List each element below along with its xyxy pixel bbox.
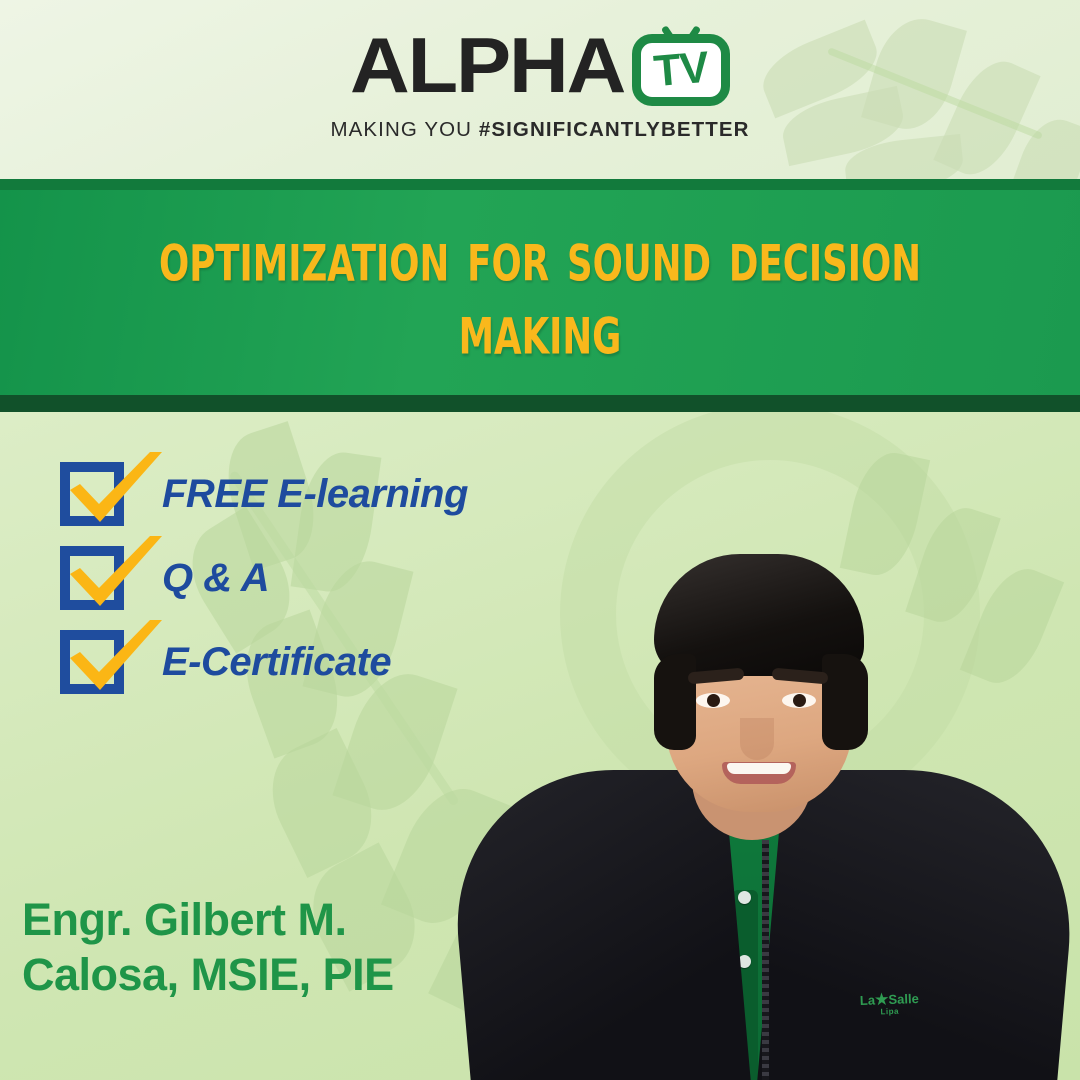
- title-banner: Optimization for Sound Decision Making: [0, 179, 1080, 412]
- speaker-name: Engr. Gilbert M. Calosa, MSIE, PIE: [22, 893, 502, 1003]
- photo-eye-right: [782, 693, 816, 708]
- photo-mouth: [722, 762, 796, 784]
- photo-jacket-zipper: [762, 840, 769, 1080]
- tagline-hashtag: #SIGNIFICANTLYBETTER: [479, 118, 750, 141]
- list-item-label: E-Certificate: [162, 640, 391, 685]
- tv-icon: TV: [632, 24, 730, 106]
- photo-nose: [740, 718, 774, 760]
- photo-eye-left: [696, 693, 730, 708]
- jacket-logo-part2: Salle: [888, 991, 919, 1007]
- alpha-tv-logo[interactable]: ALPHA TV: [350, 24, 731, 106]
- jacket-logo-part1: La: [860, 992, 876, 1008]
- jacket-logo: La★Salle Lipa: [860, 991, 920, 1017]
- promotional-poster: ALPHA TV MAKING YOU #SIGNIFICANTLYBETTER…: [0, 0, 1080, 1080]
- star-icon: ★: [875, 991, 889, 1008]
- speaker-name-line2: Calosa, MSIE, PIE: [22, 948, 502, 1003]
- checkmark-icon: [66, 534, 166, 620]
- photo-jacket-right: [756, 770, 1080, 1080]
- list-item-label: Q & A: [162, 556, 269, 601]
- checkmark-icon: [66, 618, 166, 704]
- list-item-label: FREE E-learning: [162, 472, 468, 517]
- brand-tagline: MAKING YOU #SIGNIFICANTLYBETTER: [330, 118, 749, 142]
- photo-polo-button: [738, 891, 751, 904]
- brand-header: ALPHA TV MAKING YOU #SIGNIFICANTLYBETTER: [0, 0, 1080, 179]
- speaker-name-line1: Engr. Gilbert M.: [22, 893, 502, 948]
- checkbox-checked-icon[interactable]: [60, 546, 124, 610]
- speaker-photo: La★Salle Lipa: [440, 420, 1080, 1080]
- photo-hair-side-left: [654, 654, 696, 750]
- logo-wordmark: ALPHA: [350, 28, 624, 102]
- checkbox-checked-icon[interactable]: [60, 630, 124, 694]
- checkmark-icon: [66, 450, 166, 536]
- page-title: Optimization for Sound Decision Making: [108, 219, 973, 366]
- tagline-prefix: MAKING YOU: [330, 118, 478, 141]
- checkbox-checked-icon[interactable]: [60, 462, 124, 526]
- tv-logo-label: TV: [629, 30, 733, 110]
- photo-hair-side-right: [822, 654, 868, 750]
